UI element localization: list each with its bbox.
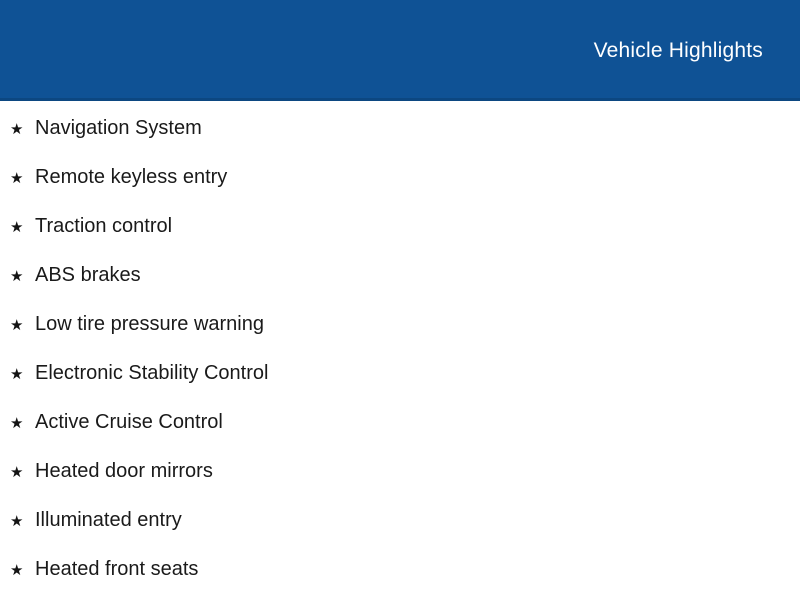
highlight-label: Remote keyless entry — [35, 167, 227, 187]
highlight-label: Electronic Stability Control — [35, 363, 268, 383]
list-item: ★ Remote keyless entry — [0, 167, 800, 216]
page-header: Vehicle Highlights — [0, 0, 800, 101]
highlight-label: Illuminated entry — [35, 510, 182, 530]
list-item: ★ ABS brakes — [0, 265, 800, 314]
list-item: ★ Active Cruise Control — [0, 412, 800, 461]
star-icon: ★ — [10, 217, 35, 237]
highlight-label: Navigation System — [35, 118, 202, 138]
star-icon: ★ — [10, 462, 35, 482]
star-icon: ★ — [10, 315, 35, 335]
list-item: ★ Electronic Stability Control — [0, 363, 800, 412]
star-icon: ★ — [10, 413, 35, 433]
star-icon: ★ — [10, 364, 35, 384]
star-icon: ★ — [10, 119, 35, 139]
list-item: ★ Low tire pressure warning — [0, 314, 800, 363]
highlight-label: Active Cruise Control — [35, 412, 223, 432]
list-item: ★ Illuminated entry — [0, 510, 800, 559]
list-item: ★ Navigation System — [0, 118, 800, 167]
list-item: ★ Heated door mirrors — [0, 461, 800, 510]
list-item: ★ Heated front seats — [0, 559, 800, 608]
star-icon: ★ — [10, 168, 35, 188]
star-icon: ★ — [10, 560, 35, 580]
highlight-label: Heated front seats — [35, 559, 198, 579]
highlight-label: ABS brakes — [35, 265, 141, 285]
vehicle-highlights-page: Vehicle Highlights ★ Navigation System ★… — [0, 0, 800, 600]
highlight-label: Heated door mirrors — [35, 461, 213, 481]
highlight-label: Low tire pressure warning — [35, 314, 264, 334]
highlight-label: Traction control — [35, 216, 172, 236]
vehicle-highlights-list: ★ Navigation System ★ Remote keyless ent… — [0, 101, 800, 608]
list-item: ★ Traction control — [0, 216, 800, 265]
star-icon: ★ — [10, 511, 35, 531]
star-icon: ★ — [10, 266, 35, 286]
page-title: Vehicle Highlights — [594, 40, 800, 61]
